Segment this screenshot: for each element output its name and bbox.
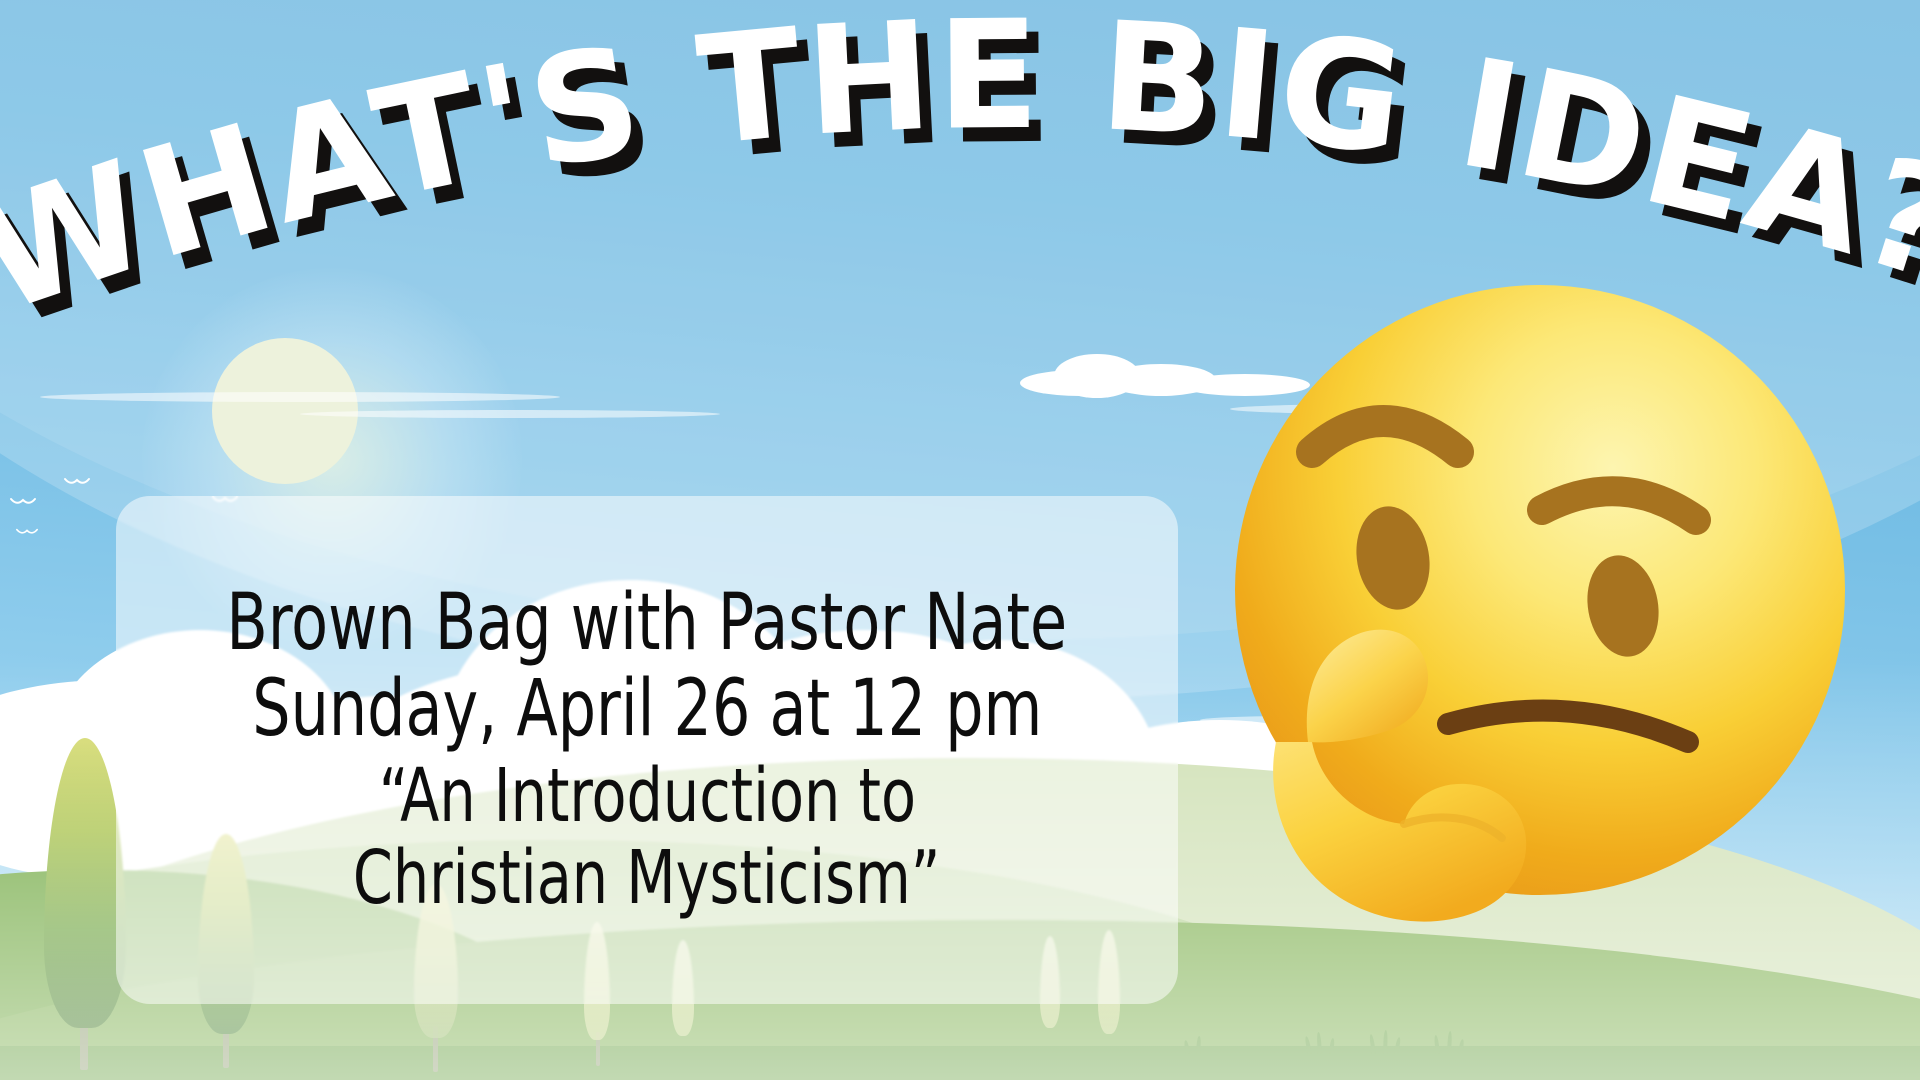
poster-canvas: WHAT'S THE BIG IDEA? WHAT'S THE BIG IDEA… <box>0 0 1920 1080</box>
bird-icon-4 <box>16 528 38 538</box>
info-line-topic-1: “An Introduction to <box>378 757 915 837</box>
info-line-topic-2: Christian Mysticism” <box>353 839 941 919</box>
cloud-icon-wisp-2 <box>300 410 720 418</box>
bird-icon-2 <box>60 478 94 488</box>
cloud-icon-wisp-1 <box>40 392 560 402</box>
bird-icon-1 <box>10 498 36 508</box>
thinking-face-emoji <box>1190 272 1890 972</box>
info-line-host: Brown Bag with Pastor Nate <box>227 581 1068 665</box>
info-line-datetime: Sunday, April 26 at 12 pm <box>252 667 1042 751</box>
info-text-block: Brown Bag with Pastor Nate Sunday, April… <box>116 496 1178 1004</box>
